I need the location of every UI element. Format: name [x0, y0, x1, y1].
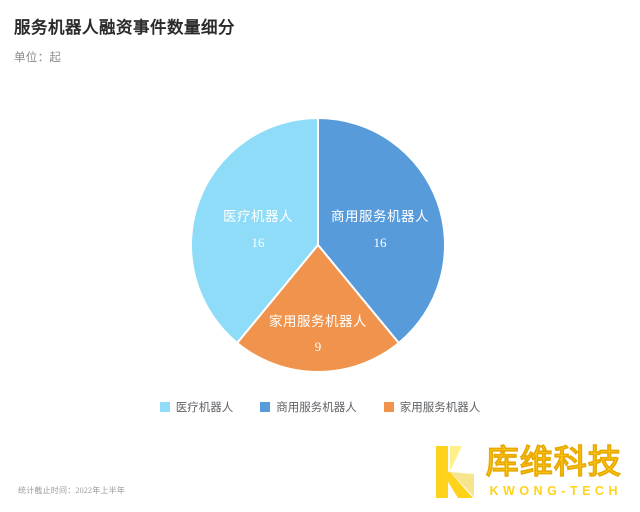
pie-chart: 医疗机器人16商用服务机器人16家用服务机器人9: [0, 0, 640, 512]
kwong-k-mark-icon: [432, 444, 478, 500]
brand-logo: 库维科技 KWONG-TECH: [432, 444, 623, 500]
pie-chart-svg: 医疗机器人16商用服务机器人16家用服务机器人9: [0, 0, 640, 512]
chart-unit-subtitle: 单位：起: [14, 49, 626, 65]
legend-item[interactable]: 商用服务机器人: [260, 399, 357, 415]
pie-slice-label: 医疗机器人: [223, 209, 293, 224]
legend-item-label: 商用服务机器人: [276, 399, 357, 415]
logo-text-block: 库维科技 KWONG-TECH: [486, 447, 623, 498]
chart-header: 服务机器人融资事件数量细分 单位：起: [14, 14, 626, 65]
pie-slice-value: 16: [374, 235, 388, 250]
pie-label-group: 医疗机器人16商用服务机器人16家用服务机器人9: [223, 209, 429, 354]
legend-item-label: 家用服务机器人: [400, 399, 481, 415]
legend-item[interactable]: 医疗机器人: [160, 399, 234, 415]
pie-slice-value: 16: [252, 235, 266, 250]
chart-legend: 医疗机器人商用服务机器人家用服务机器人: [0, 399, 640, 415]
pie-slice[interactable]: [318, 118, 445, 343]
legend-color-swatch: [384, 402, 394, 412]
pie-slice-label: 商用服务机器人: [331, 209, 429, 224]
pie-slice[interactable]: [191, 118, 318, 343]
logo-english-name: KWONG-TECH: [486, 485, 623, 498]
pie-slice[interactable]: [237, 245, 399, 372]
legend-color-swatch: [260, 402, 270, 412]
legend-item-label: 医疗机器人: [176, 399, 234, 415]
pie-slice-group: [191, 118, 445, 372]
pie-slice-label: 家用服务机器人: [269, 313, 367, 329]
footer-source-note: 统计截止时间：2022年上半年: [18, 485, 125, 496]
pie-slice-value: 9: [315, 339, 322, 354]
legend-item[interactable]: 家用服务机器人: [384, 399, 481, 415]
page-title: 服务机器人融资事件数量细分: [14, 14, 626, 38]
legend-color-swatch: [160, 402, 170, 412]
logo-chinese-name: 库维科技: [486, 447, 622, 480]
